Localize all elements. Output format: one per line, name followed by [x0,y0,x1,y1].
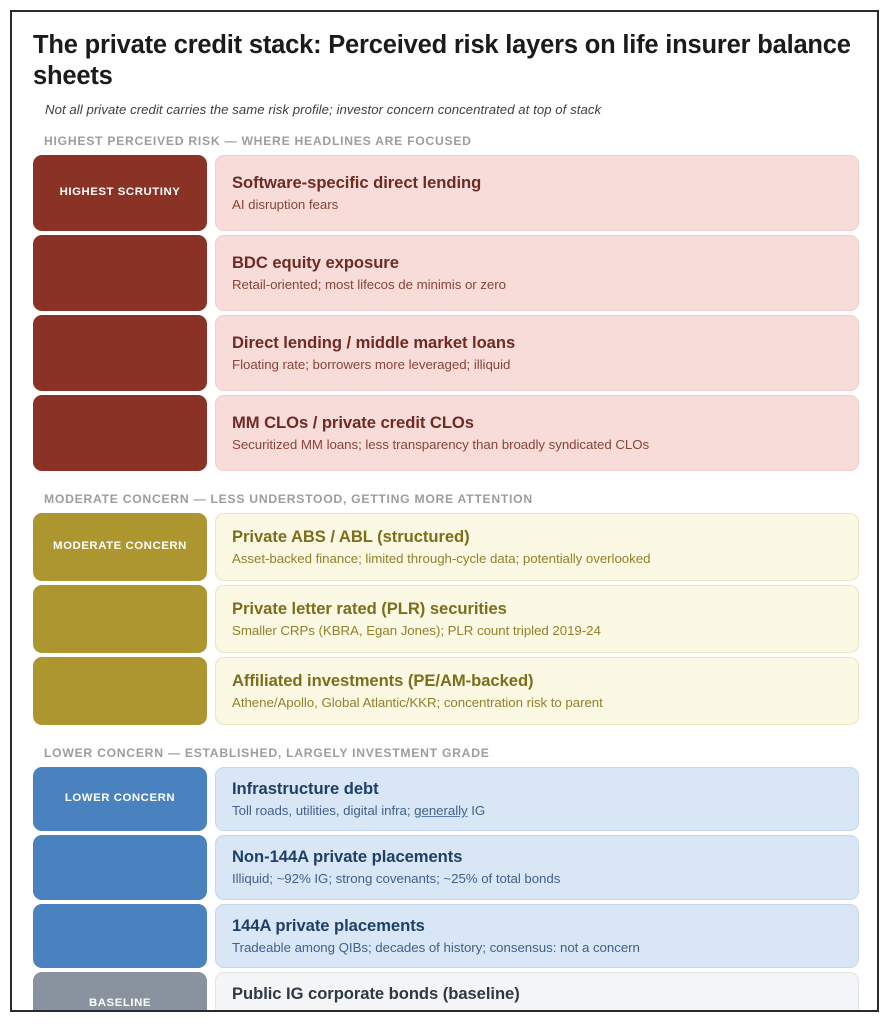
risk-row-panel: Infrastructure debt Toll roads, utilitie… [215,767,859,831]
risk-tier-label [33,235,207,311]
risk-row-desc-post: IG [468,803,486,818]
section-heading-moderate: MODERATE CONCERN — LESS UNDERSTOOD, GETT… [44,492,859,506]
infographic-card: The private credit stack: Perceived risk… [10,10,879,1012]
risk-row-desc-underlined: generally [414,803,468,818]
risk-row-desc: Tradeable among QIBs; decades of history… [232,939,858,956]
risk-row-title: MM CLOs / private credit CLOs [232,413,858,433]
risk-row[interactable]: BASELINE Public IG corporate bonds (base… [33,972,859,1012]
section-heading-highest: HIGHEST PERCEIVED RISK — WHERE HEADLINES… [44,134,859,148]
section-rows-highest: HIGHEST SCRUTINY Software-specific direc… [33,155,859,471]
risk-row-desc-pre: Toll roads, utilities, digital infra; [232,803,414,818]
risk-row-panel: Software-specific direct lending AI disr… [215,155,859,231]
risk-row-desc: Securitized MM loans; less transparency … [232,436,858,453]
risk-row-title: Private ABS / ABL (structured) [232,527,858,547]
page-title: The private credit stack: Perceived risk… [33,30,853,92]
section-rows-baseline: BASELINE Public IG corporate bonds (base… [33,972,859,1012]
risk-tier-label [33,657,207,725]
risk-row-panel: BDC equity exposure Retail-oriented; mos… [215,235,859,311]
page-subtitle: Not all private credit carries the same … [45,102,859,117]
risk-row-title: Public IG corporate bonds (baseline) [232,984,858,1004]
section-rows-lower: LOWER CONCERN Infrastructure debt Toll r… [33,767,859,968]
risk-tier-label [33,835,207,899]
risk-row-desc: Fully transparent, liquid, Big 3 rated; … [232,1007,858,1012]
risk-row-desc: Toll roads, utilities, digital infra; ge… [232,802,858,819]
risk-tier-label: HIGHEST SCRUTINY [33,155,207,231]
risk-row-title: Infrastructure debt [232,779,858,799]
risk-row-title: Software-specific direct lending [232,173,858,193]
risk-row-panel: Private ABS / ABL (structured) Asset-bac… [215,513,859,581]
risk-row-title: Affiliated investments (PE/AM-backed) [232,671,858,691]
risk-row-desc: Illiquid; ~92% IG; strong covenants; ~25… [232,870,858,887]
risk-tier-label [33,395,207,471]
risk-row[interactable]: LOWER CONCERN Infrastructure debt Toll r… [33,767,859,831]
risk-row-panel: 144A private placements Tradeable among … [215,904,859,968]
risk-row[interactable]: 144A private placements Tradeable among … [33,904,859,968]
risk-row[interactable]: Direct lending / middle market loans Flo… [33,315,859,391]
risk-row[interactable]: Affiliated investments (PE/AM-backed) At… [33,657,859,725]
risk-row-panel: Private letter rated (PLR) securities Sm… [215,585,859,653]
risk-row-desc: AI disruption fears [232,196,858,213]
risk-tier-label [33,904,207,968]
risk-row-panel: MM CLOs / private credit CLOs Securitize… [215,395,859,471]
risk-row-panel: Direct lending / middle market loans Flo… [215,315,859,391]
risk-row[interactable]: Non-144A private placements Illiquid; ~9… [33,835,859,899]
risk-row-desc: Asset-backed finance; limited through-cy… [232,550,858,567]
risk-tier-label: BASELINE [33,972,207,1012]
risk-row-title: Private letter rated (PLR) securities [232,599,858,619]
risk-row[interactable]: HIGHEST SCRUTINY Software-specific direc… [33,155,859,231]
risk-row[interactable]: MODERATE CONCERN Private ABS / ABL (stru… [33,513,859,581]
risk-tier-label: LOWER CONCERN [33,767,207,831]
risk-row-title: 144A private placements [232,916,858,936]
risk-row-desc: Retail-oriented; most lifecos de minimis… [232,276,858,293]
risk-row-panel: Non-144A private placements Illiquid; ~9… [215,835,859,899]
risk-row[interactable]: Private letter rated (PLR) securities Sm… [33,585,859,653]
risk-row[interactable]: BDC equity exposure Retail-oriented; mos… [33,235,859,311]
risk-tier-label: MODERATE CONCERN [33,513,207,581]
risk-row-desc: Athene/Apollo, Global Atlantic/KKR; conc… [232,694,858,711]
risk-row[interactable]: MM CLOs / private credit CLOs Securitize… [33,395,859,471]
risk-row-title: Non-144A private placements [232,847,858,867]
risk-row-title: BDC equity exposure [232,253,858,273]
risk-row-desc: Smaller CRPs (KBRA, Egan Jones); PLR cou… [232,622,858,639]
risk-row-panel: Affiliated investments (PE/AM-backed) At… [215,657,859,725]
risk-row-title: Direct lending / middle market loans [232,333,858,353]
risk-row-panel: Public IG corporate bonds (baseline) Ful… [215,972,859,1012]
risk-tier-label [33,585,207,653]
section-heading-lower: LOWER CONCERN — ESTABLISHED, LARGELY INV… [44,746,859,760]
risk-tier-label [33,315,207,391]
infographic-inner: The private credit stack: Perceived risk… [12,12,877,1010]
risk-row-desc: Floating rate; borrowers more leveraged;… [232,356,858,373]
section-rows-moderate: MODERATE CONCERN Private ABS / ABL (stru… [33,513,859,725]
